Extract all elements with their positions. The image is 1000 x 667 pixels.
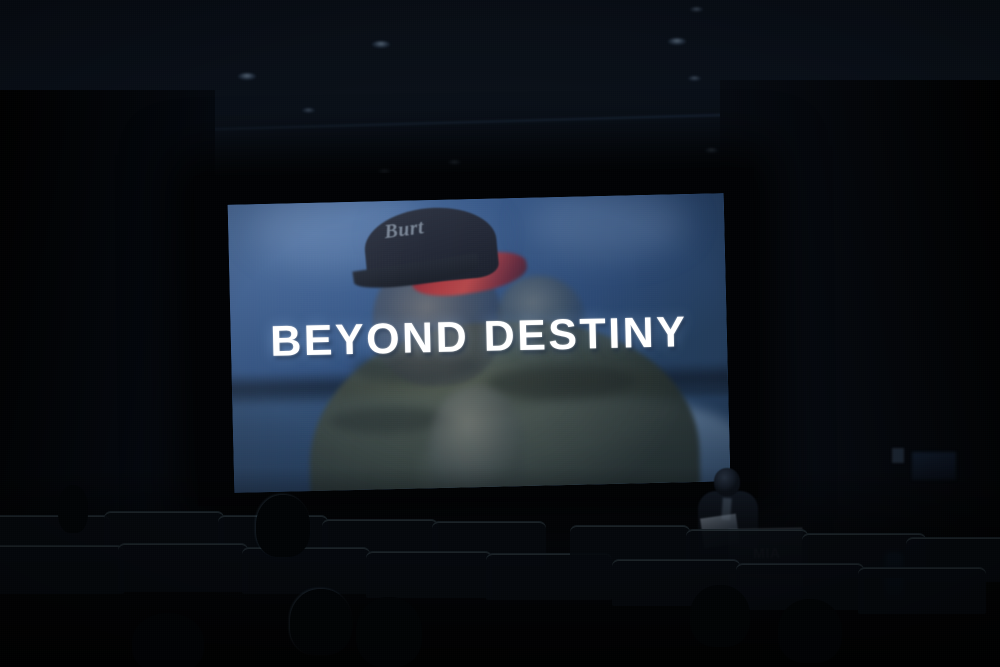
ceiling-downlight-icon	[448, 160, 461, 165]
audience-head	[356, 597, 422, 667]
audience-head-rim	[256, 495, 310, 557]
theater-seat	[118, 543, 248, 592]
audience-head-rim	[290, 589, 352, 655]
projected-film-still: Burt BEYOND DESTINY	[228, 193, 731, 493]
ceiling-downlight-icon	[238, 73, 256, 80]
theater-seat	[0, 545, 124, 594]
wall-sign-icon	[892, 448, 904, 463]
ceiling-downlight-icon	[688, 76, 701, 81]
cinema-scene: Burt BEYOND DESTINY MIA MERCATO INTERNAZ…	[0, 0, 1000, 667]
audience-head	[58, 485, 88, 533]
theater-seat	[242, 547, 370, 594]
theater-seat	[858, 567, 986, 614]
audience-area	[0, 467, 1000, 667]
film-title-text: BEYOND DESTINY	[230, 310, 727, 365]
theater-seat	[366, 551, 492, 598]
ceiling-downlight-icon	[372, 41, 390, 48]
ceiling-downlight-icon	[705, 148, 718, 153]
ceiling-downlight-icon	[690, 7, 703, 12]
ceiling-downlight-icon	[668, 38, 686, 45]
audience-head	[778, 599, 842, 663]
ceiling-downlight-icon	[302, 108, 315, 113]
audience-head	[132, 613, 204, 667]
audience-head	[690, 585, 750, 647]
